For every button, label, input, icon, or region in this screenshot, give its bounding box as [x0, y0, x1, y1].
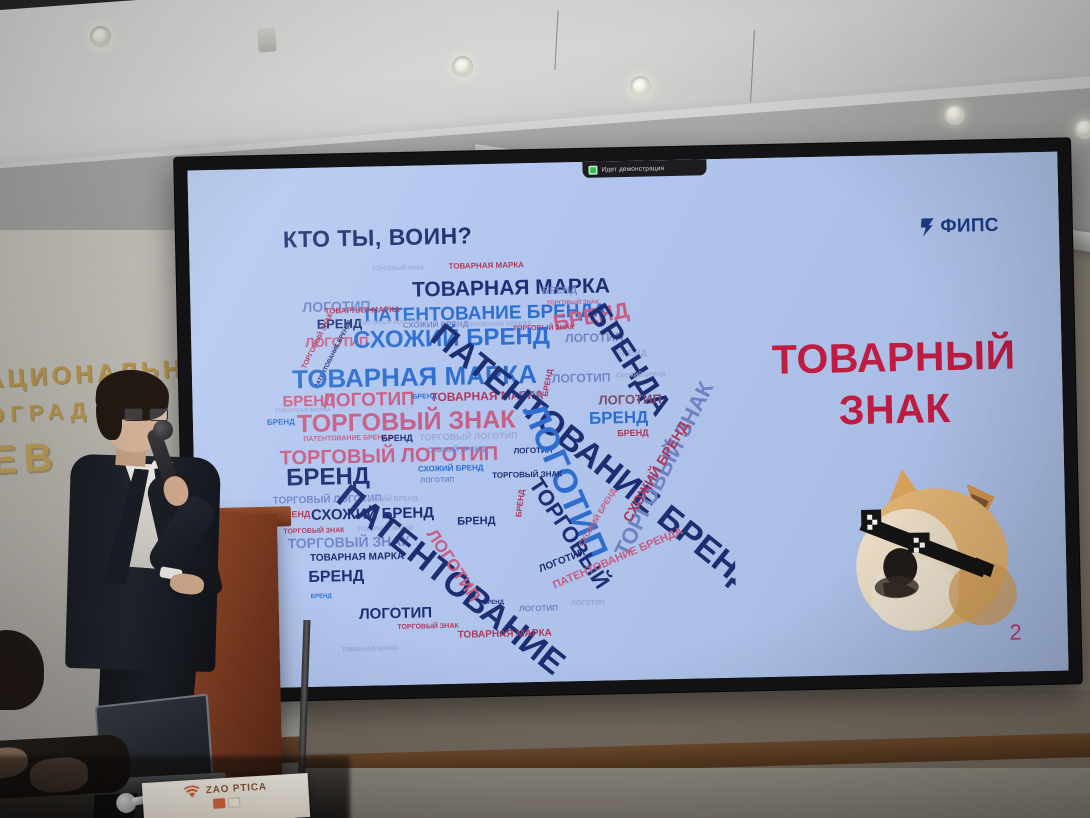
screen-share-label: Идет демонстрация	[601, 165, 664, 173]
presentation-screen[interactable]: КТО ТЫ, ВОИН? ФИПС ТОВАРНАЯ МАРКАТОВАРНА…	[174, 138, 1082, 702]
wifi-device-label: ZAO PTICA	[206, 781, 268, 796]
photo-scene: АЦИОНАЛЬНЫЙ ОГРАД К ЕВ КТО ТЫ, ВОИН? ФИП…	[0, 0, 1090, 818]
fips-mark-icon	[919, 217, 936, 237]
word-cloud-term: ТОРГОВЫЙ ЗНАК	[397, 623, 458, 631]
word-cloud-term: ЛОГОТИП	[571, 600, 605, 608]
doge-meme-icon	[840, 452, 1034, 641]
headline-line-2: ЗНАК	[744, 380, 1045, 439]
glasses-lens-left	[124, 408, 143, 421]
word-cloud-term: БРЕНД	[267, 418, 295, 427]
screen-share-indicator: Идет демонстрация	[582, 159, 706, 178]
word-cloud-term: БРЕНД	[515, 489, 526, 518]
word-cloud-term: СХОЖИЙ БРЕНД	[616, 372, 665, 379]
fips-logo-text: ФИПС	[940, 215, 999, 238]
ceiling-spotlight	[93, 29, 108, 44]
attendee-head	[0, 630, 44, 710]
word-cloud-term: БРЕНД	[457, 516, 496, 528]
page-number: 2	[1009, 619, 1022, 645]
ceiling-spotlight	[947, 107, 962, 122]
word-cloud-term: БРЕНД	[542, 286, 577, 297]
presenter-hair-side	[96, 388, 122, 440]
word-cloud-term: БРЕНД	[412, 393, 437, 401]
word-cloud-term: ПАТЕНТОВАНИЕ БРЕНДА	[303, 434, 392, 443]
word-cloud-term: ТОРГОВЫЙ ЗНАК	[492, 470, 562, 480]
word-cloud-term: ТОРГОВЫЙ ЛОГОТИП	[419, 431, 517, 442]
fips-logo: ФИПС	[919, 215, 999, 239]
word-cloud-term: БРЕНД	[617, 429, 649, 439]
ceiling-spotlight	[1077, 121, 1090, 136]
word-cloud-term: ЛОГОТИП	[598, 392, 661, 406]
screen-share-icon	[588, 165, 597, 174]
word-cloud-term: ТОВАРНАЯ МАРКА	[412, 275, 610, 300]
word-cloud-term: ТОВАРНАЯ МАРКА	[342, 646, 399, 653]
word-cloud-term: ЛОГОТИП	[359, 605, 432, 622]
headline-line-1: ТОВАРНЫЙ	[743, 328, 1044, 387]
floor-strip	[300, 768, 1090, 818]
word-cloud-term: БРЕНД	[483, 600, 504, 606]
word-cloud-term: ТОРГОВЫЙ ЗНАК	[372, 265, 425, 272]
word-cloud-term: СХОЖИЙ БРЕНД	[418, 464, 484, 473]
ceiling-spotlight	[455, 59, 470, 74]
wifi-port	[212, 798, 225, 809]
screen-display-area[interactable]: КТО ТЫ, ВОИН? ФИПС ТОВАРНАЯ МАРКАТОВАРНА…	[187, 152, 1068, 690]
word-cloud-term: ЛОГОТИП	[552, 371, 611, 384]
wifi-brand-row: ZAO PTICA	[183, 780, 267, 798]
ceiling-spotlight	[633, 79, 648, 94]
word-cloud-term: БРЕНД	[311, 594, 332, 600]
ceiling-sensor-icon	[257, 27, 277, 52]
word-cloud-term: БРЕНД	[308, 569, 364, 586]
wifi-icon	[183, 785, 201, 799]
word-cloud-term: ТОВАРНАЯ МАРКА	[324, 306, 400, 316]
word-cloud-canvas: ТОВАРНАЯ МАРКАТОВАРНАЯ МАРКАЛОГОТИПТОРГО…	[263, 251, 737, 681]
headline-text: ТОВАРНЫЙ ЗНАК	[743, 328, 1045, 439]
word-cloud: ТОВАРНАЯ МАРКАТОВАРНАЯ МАРКАЛОГОТИПТОРГО…	[263, 251, 737, 681]
word-cloud-term: ТОВАРНАЯ МАРКА	[458, 629, 552, 641]
slide-title: КТО ТЫ, ВОИН?	[283, 222, 473, 253]
word-cloud-term: ЛОГОТИП	[519, 605, 558, 614]
word-cloud-term: БРЕНД	[589, 409, 649, 427]
word-cloud-term: БРЕНД	[381, 434, 413, 444]
wifi-port	[227, 797, 240, 808]
word-cloud-term: ТОВАРНАЯ МАРКА	[449, 261, 525, 271]
wifi-device-ports	[212, 797, 240, 809]
slide: КТО ТЫ, ВОИН? ФИПС ТОВАРНАЯ МАРКАТОВАРНА…	[187, 152, 1068, 690]
word-cloud-term: ЛОГОТИП	[420, 477, 454, 485]
word-cloud-term: СХОЖИЙ БРЕНД	[428, 446, 486, 454]
